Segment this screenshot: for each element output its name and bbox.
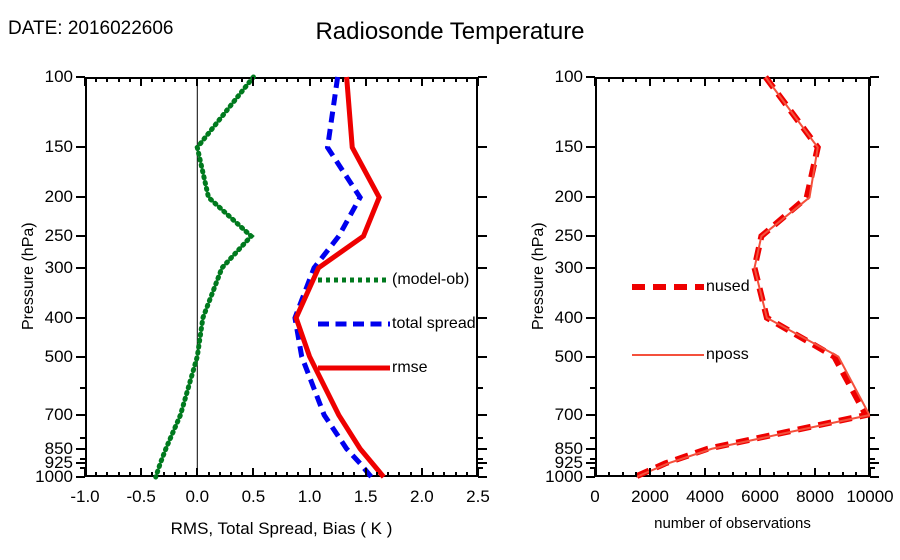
x-tick-right: [869, 77, 871, 86]
x-tick-left: [421, 77, 423, 86]
y-tick-250: [586, 235, 595, 237]
y-tick-925: [870, 462, 879, 464]
y-tick-925: [586, 462, 595, 464]
x-tick-right: [800, 472, 802, 477]
y-tick-500: [870, 356, 879, 358]
y-tick-400: [586, 317, 595, 319]
x-tick-right: [759, 77, 761, 86]
x-tick-label-right-5: 10000: [830, 487, 900, 507]
y-tick-label-1000: 1000: [513, 467, 583, 487]
x-tick-left: [297, 472, 299, 477]
x-tick-left: [208, 472, 210, 477]
x-tick-left: [331, 472, 333, 477]
y-minor-tick: [590, 437, 595, 439]
x-tick-left: [275, 77, 277, 82]
x-tick-left: [477, 77, 479, 86]
x-tick-label-left-7: 2.5: [438, 487, 518, 507]
x-tick-left: [129, 472, 131, 477]
y-minor-tick: [590, 458, 595, 460]
page-title: Radiosonde Temperature: [0, 18, 900, 46]
x-tick-right: [745, 472, 747, 477]
x-tick-right: [690, 77, 692, 82]
x-tick-left: [196, 77, 198, 86]
x-tick-left: [84, 77, 86, 86]
x-tick-right: [677, 77, 679, 82]
y-tick-100: [870, 76, 879, 78]
x-tick-left: [410, 472, 412, 477]
x-tick-left: [174, 77, 176, 82]
y-tick-label-100: 100: [3, 67, 73, 87]
legend-right-item-nused[interactable]: nused: [632, 278, 750, 296]
y-tick-850: [586, 448, 595, 450]
x-tick-left: [309, 77, 311, 86]
legend-swatch-dashed: [318, 317, 390, 331]
y-tick-200: [870, 196, 879, 198]
series-nused: [635, 77, 866, 477]
y-tick-400: [76, 317, 85, 319]
x-tick-left: [106, 472, 108, 477]
x-tick-right: [787, 77, 789, 82]
x-tick-right: [800, 77, 802, 82]
y-tick-700: [76, 414, 85, 416]
x-tick-left: [365, 468, 367, 477]
x-tick-right: [649, 468, 651, 477]
x-tick-right: [773, 472, 775, 477]
x-tick-right: [677, 472, 679, 477]
series-nposs: [636, 77, 869, 477]
y-tick-label-100: 100: [513, 67, 583, 87]
y-tick-150: [478, 146, 487, 148]
y-tick-300: [478, 267, 487, 269]
y-tick-150: [870, 146, 879, 148]
y-tick-700: [586, 414, 595, 416]
x-tick-right: [842, 77, 844, 82]
x-tick-left: [106, 77, 108, 82]
x-tick-right: [828, 472, 830, 477]
y-minor-tick: [478, 387, 483, 389]
x-axis-title-right: number of observations: [535, 515, 900, 532]
y-tick-850: [76, 448, 85, 450]
x-tick-left: [443, 77, 445, 82]
y-tick-label-300: 300: [3, 258, 73, 278]
x-tick-right: [622, 472, 624, 477]
x-tick-left: [118, 472, 120, 477]
x-tick-left: [275, 472, 277, 477]
x-axis-title-left: RMS, Total Spread, Bias ( K ): [0, 519, 563, 539]
y-tick-400: [478, 317, 487, 319]
plot-area-right: [595, 77, 870, 477]
y-tick-500: [76, 356, 85, 358]
x-tick-right: [759, 468, 761, 477]
legend-left-item-modelob[interactable]: (model-ob): [318, 271, 469, 289]
y-tick-label-1000: 1000: [3, 467, 73, 487]
x-tick-right: [663, 77, 665, 82]
x-tick-left: [151, 77, 153, 82]
x-tick-left: [342, 472, 344, 477]
x-tick-left: [398, 77, 400, 82]
x-tick-right: [594, 77, 596, 86]
y-tick-850: [478, 448, 487, 450]
y-tick-label-400: 400: [3, 308, 73, 328]
x-tick-left: [286, 472, 288, 477]
x-tick-right: [855, 472, 857, 477]
y-tick-label-700: 700: [3, 405, 73, 425]
x-tick-right: [787, 472, 789, 477]
y-tick-label-150: 150: [513, 137, 583, 157]
y-tick-label-400: 400: [513, 308, 583, 328]
y-tick-400: [870, 317, 879, 319]
x-tick-right: [622, 77, 624, 82]
y-minor-tick: [478, 458, 483, 460]
x-tick-right: [814, 77, 816, 86]
x-tick-right: [608, 472, 610, 477]
x-tick-left: [140, 77, 142, 86]
y-tick-200: [586, 196, 595, 198]
x-tick-right: [855, 77, 857, 82]
x-tick-left: [376, 472, 378, 477]
y-tick-925: [76, 462, 85, 464]
y-tick-300: [870, 267, 879, 269]
y-tick-label-200: 200: [513, 187, 583, 207]
x-tick-left: [264, 472, 266, 477]
x-tick-left: [387, 472, 389, 477]
x-tick-left: [477, 468, 479, 477]
y-minor-tick: [80, 458, 85, 460]
y-tick-1000: [870, 476, 879, 478]
y-minor-tick: [80, 387, 85, 389]
y-minor-tick: [80, 437, 85, 439]
legend-label: nposs: [704, 346, 749, 364]
x-tick-left: [196, 468, 198, 477]
x-tick-left: [219, 472, 221, 477]
legend-left-item-totalspread[interactable]: total spread: [318, 315, 476, 333]
x-tick-left: [151, 472, 153, 477]
x-tick-right: [635, 472, 637, 477]
y-tick-200: [478, 196, 487, 198]
x-tick-left: [353, 472, 355, 477]
x-tick-left: [241, 472, 243, 477]
x-tick-left: [421, 468, 423, 477]
x-tick-right: [732, 472, 734, 477]
legend-label: total spread: [390, 315, 476, 333]
y-minor-tick: [870, 437, 875, 439]
x-tick-right: [635, 77, 637, 82]
x-tick-right: [842, 472, 844, 477]
x-tick-right: [608, 77, 610, 82]
x-tick-right: [649, 77, 651, 86]
x-tick-left: [185, 77, 187, 82]
x-tick-right: [690, 472, 692, 477]
y-minor-tick: [870, 458, 875, 460]
y-tick-200: [76, 196, 85, 198]
x-tick-right: [869, 468, 871, 477]
x-tick-right: [773, 77, 775, 82]
y-tick-300: [76, 267, 85, 269]
x-tick-left: [432, 77, 434, 82]
x-tick-left: [230, 77, 232, 82]
x-tick-left: [163, 77, 165, 82]
x-tick-left: [320, 472, 322, 477]
x-tick-right: [704, 468, 706, 477]
x-tick-left: [118, 77, 120, 82]
x-tick-left: [297, 77, 299, 82]
x-tick-left: [84, 468, 86, 477]
x-tick-left: [466, 472, 468, 477]
x-tick-right: [718, 77, 720, 82]
y-tick-250: [478, 235, 487, 237]
legend-swatch-dotted: [318, 273, 390, 287]
y-tick-250: [76, 235, 85, 237]
x-tick-left: [331, 77, 333, 82]
x-tick-left: [95, 77, 97, 82]
x-tick-right: [828, 77, 830, 82]
x-tick-right: [718, 472, 720, 477]
legend-label: nused: [704, 278, 750, 296]
y-minor-tick: [870, 387, 875, 389]
x-tick-right: [814, 468, 816, 477]
legend-swatch-dashed: [632, 280, 704, 294]
y-tick-label-150: 150: [3, 137, 73, 157]
legend-swatch-solid: [318, 361, 390, 375]
legend-label: rmse: [390, 359, 428, 377]
y-tick-300: [586, 267, 595, 269]
x-tick-left: [286, 77, 288, 82]
y-tick-150: [76, 146, 85, 148]
x-tick-right: [594, 468, 596, 477]
x-tick-left: [252, 77, 254, 86]
y-tick-label-500: 500: [3, 347, 73, 367]
x-tick-left: [185, 472, 187, 477]
y-minor-tick: [590, 387, 595, 389]
y-minor-tick: [478, 437, 483, 439]
legend-left-item-rmse[interactable]: rmse: [318, 359, 428, 377]
series-modelob: [156, 77, 254, 477]
x-tick-left: [208, 77, 210, 82]
x-tick-right: [704, 77, 706, 86]
y-tick-150: [586, 146, 595, 148]
x-tick-left: [264, 77, 266, 82]
x-tick-left: [365, 77, 367, 86]
y-tick-250: [870, 235, 879, 237]
y-tick-925: [478, 462, 487, 464]
y-tick-500: [478, 356, 487, 358]
y-tick-label-250: 250: [3, 226, 73, 246]
y-tick-label-300: 300: [513, 258, 583, 278]
x-tick-left: [129, 77, 131, 82]
y-tick-700: [478, 414, 487, 416]
x-tick-left: [376, 77, 378, 82]
x-tick-left: [230, 472, 232, 477]
x-tick-left: [140, 468, 142, 477]
x-tick-right: [745, 77, 747, 82]
x-tick-left: [353, 77, 355, 82]
y-tick-700: [870, 414, 879, 416]
x-tick-left: [309, 468, 311, 477]
x-tick-left: [163, 472, 165, 477]
y-tick-label-700: 700: [513, 405, 583, 425]
x-tick-left: [342, 77, 344, 82]
x-tick-left: [174, 472, 176, 477]
y-tick-label-250: 250: [513, 226, 583, 246]
x-tick-left: [387, 77, 389, 82]
x-tick-right: [663, 472, 665, 477]
legend-right-item-nposs[interactable]: nposs: [632, 346, 749, 364]
y-tick-500: [586, 356, 595, 358]
x-tick-right: [732, 77, 734, 82]
x-tick-left: [320, 77, 322, 82]
y-tick-1000: [478, 476, 487, 478]
x-tick-left: [455, 472, 457, 477]
x-tick-left: [252, 468, 254, 477]
x-tick-left: [410, 77, 412, 82]
x-tick-left: [95, 472, 97, 477]
y-tick-850: [870, 448, 879, 450]
y-tick-100: [478, 76, 487, 78]
y-tick-label-500: 500: [513, 347, 583, 367]
legend-swatch-solid: [632, 348, 704, 362]
y-tick-label-200: 200: [3, 187, 73, 207]
x-tick-left: [455, 77, 457, 82]
x-tick-left: [241, 77, 243, 82]
panel-counts: [595, 77, 870, 477]
x-tick-left: [443, 472, 445, 477]
legend-label: (model-ob): [390, 271, 469, 289]
x-tick-left: [398, 472, 400, 477]
x-tick-left: [466, 77, 468, 82]
x-tick-left: [219, 77, 221, 82]
x-tick-left: [432, 472, 434, 477]
